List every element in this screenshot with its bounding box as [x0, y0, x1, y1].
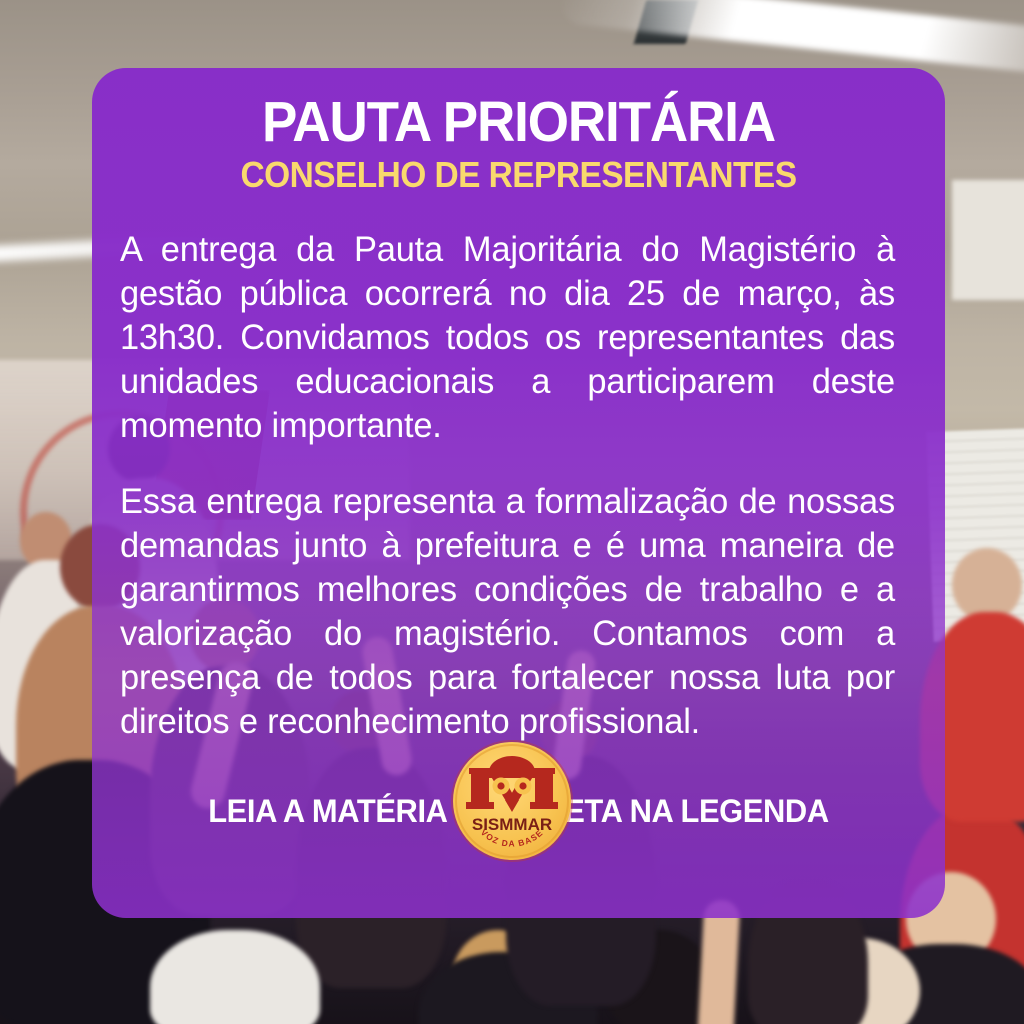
page-subtitle: CONSELHO DE REPRESENTANTES: [122, 157, 915, 193]
owl-monogram-m-icon: SISMMAR VOZ DA BASE: [453, 742, 571, 860]
card-header: PAUTA PRIORITÁRIA CONSELHO DE REPRESENTA…: [92, 68, 945, 193]
poster-canvas: PAUTA PRIORITÁRIA CONSELHO DE REPRESENTA…: [0, 0, 1024, 1024]
page-title: PAUTA PRIORITÁRIA: [122, 94, 915, 151]
paragraph-1: A entrega da Pauta Majoritária do Magist…: [120, 227, 895, 447]
body-text: A entrega da Pauta Majoritária do Magist…: [120, 227, 895, 743]
paragraph-2: Essa entrega representa a formalização d…: [120, 479, 895, 743]
sismmar-logo: SISMMAR VOZ DA BASE: [453, 742, 571, 860]
